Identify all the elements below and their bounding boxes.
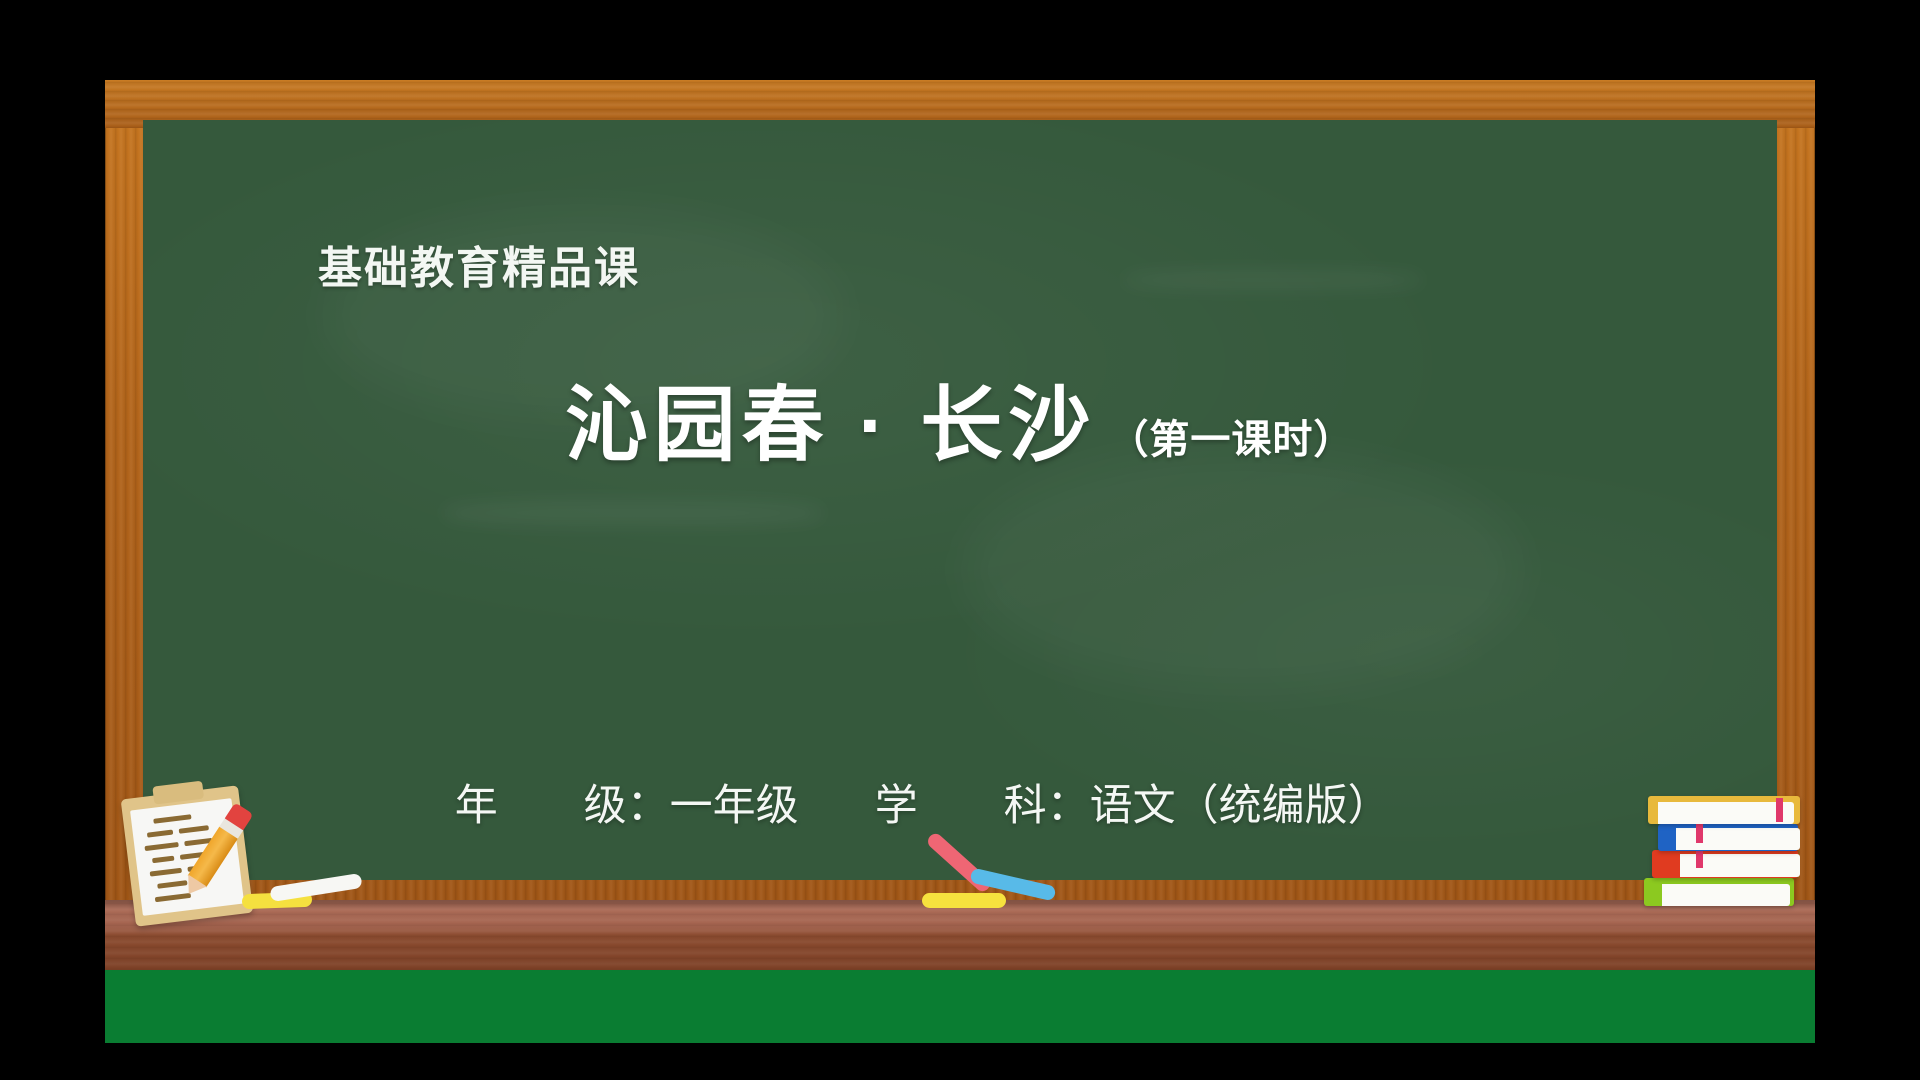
book-blue-bookmark <box>1696 821 1703 843</box>
page-title: 沁园春 · 长沙 <box>566 358 1097 477</box>
slide-canvas: 基础教育精品课 沁园春 · 长沙 （第一课时） 年 级：一年级学 科：语文（统编… <box>0 0 1920 1080</box>
meta-grade: 年 级：一年级 <box>455 773 875 839</box>
book-yellow-pages <box>1658 802 1794 824</box>
chalk-ledge <box>105 900 1815 970</box>
page-subtitle: （第一课时） <box>1108 407 1354 465</box>
book-yellow-bookmark <box>1776 798 1783 822</box>
chalk-streak <box>443 500 823 526</box>
meta-subject: 学 科：语文（统编版） <box>875 773 1391 839</box>
book-green-pages <box>1662 884 1790 906</box>
book-blue-pages <box>1676 828 1800 850</box>
chalkboard-frame: 基础教育精品课 沁园春 · 长沙 （第一课时） 年 级：一年级学 科：语文（统编… <box>105 80 1815 970</box>
slide-title-row: 沁园春 · 长沙 （第一课时） <box>143 358 1777 477</box>
book-stack-icon <box>1640 790 1820 910</box>
chalkboard-surface: 基础教育精品课 沁园春 · 长沙 （第一课时） 年 级：一年级学 科：语文（统编… <box>143 120 1777 880</box>
chalk-stick-yellow-center <box>922 893 1006 908</box>
bottom-green-band <box>105 970 1815 1043</box>
slide-kicker: 基础教育精品课 <box>318 232 640 296</box>
chalk-streak <box>1123 270 1423 290</box>
slide-meta: 年 级：一年级学 科：语文（统编版） 主讲人：邱敏学 校：四川省隆昌市城关职业中… <box>318 575 1606 880</box>
